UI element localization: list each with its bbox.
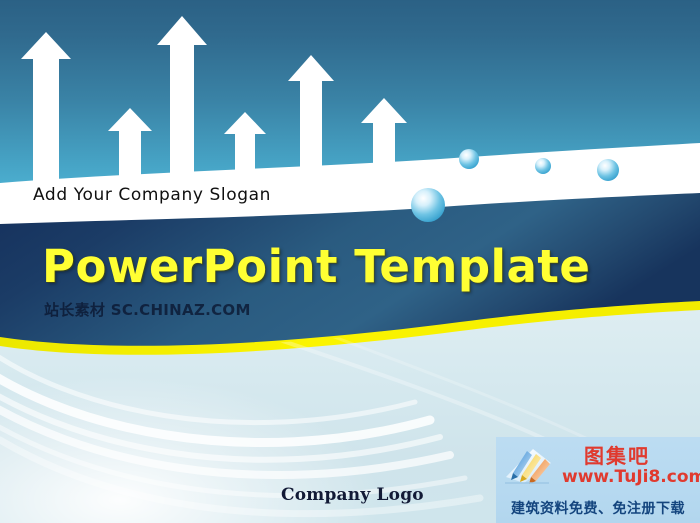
source-watermark-text: 站长素材 SC.CHINAZ.COM <box>44 299 251 320</box>
book-pencils-icon <box>503 443 555 489</box>
white-up-arrow <box>157 16 207 104</box>
blue-bubble <box>597 159 619 181</box>
blue-bubble <box>411 188 445 222</box>
badge-tagline: 建筑资料免费、免注册下载 <box>496 495 700 523</box>
arrow-group <box>21 16 407 172</box>
badge-website-url[interactable]: www.TuJi8.com <box>562 467 700 487</box>
blue-bubble <box>535 158 551 174</box>
badge-top-row: 图集吧 www.TuJi8.com <box>496 437 700 495</box>
company-slogan-text[interactable]: Add Your Company Slogan <box>33 185 271 205</box>
company-logo-placeholder[interactable]: Company Logo <box>281 485 424 505</box>
powerpoint-template-slide: Add Your Company Slogan PowerPoint Templ… <box>0 0 700 523</box>
site-watermark-badge[interactable]: 图集吧 www.TuJi8.com 建筑资料免费、免注册下载 <box>496 437 700 523</box>
white-up-arrow <box>288 55 334 141</box>
page-title[interactable]: PowerPoint Template <box>42 240 590 293</box>
blue-bubble <box>459 149 479 169</box>
badge-brand-name[interactable]: 图集吧 <box>584 440 650 469</box>
